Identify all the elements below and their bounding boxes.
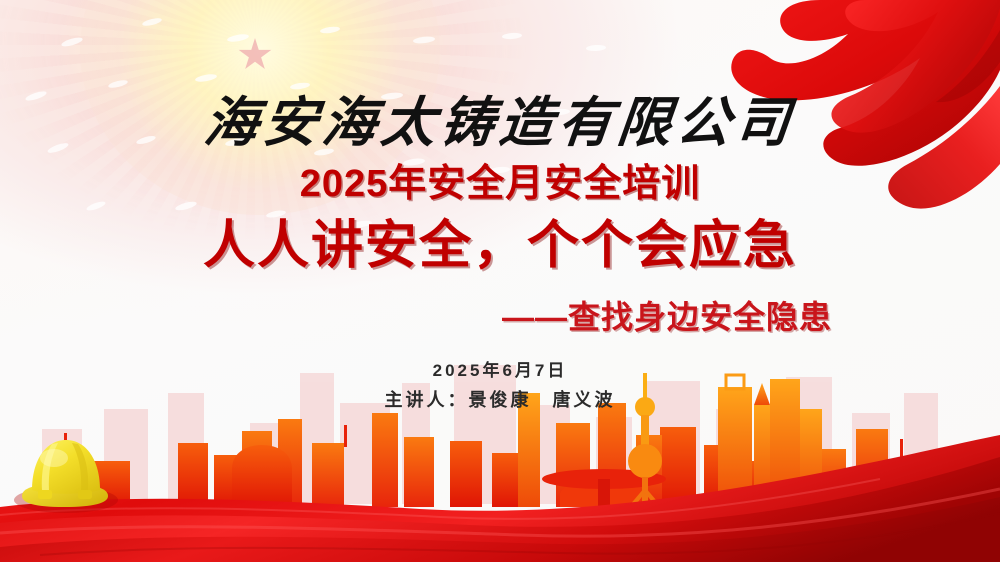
- presenter-names: 主讲人：景俊康 唐义波: [0, 386, 1000, 412]
- training-title: 2025年安全月安全培训: [0, 152, 1000, 207]
- presentation-slide: 海安海太铸造有限公司 2025年安全月安全培训 人人讲安全，个个会应急 ——查找…: [0, 0, 1000, 562]
- sub-slogan: ——查找身边安全隐患: [502, 292, 832, 338]
- slide-text-layer: 海安海太铸造有限公司 2025年安全月安全培训 人人讲安全，个个会应急 ——查找…: [0, 0, 1000, 562]
- main-slogan: 人人讲安全，个个会应急: [0, 203, 1000, 278]
- presentation-date: 2025年6月7日: [0, 356, 1000, 381]
- company-name-title: 海安海太铸造有限公司: [0, 78, 1000, 157]
